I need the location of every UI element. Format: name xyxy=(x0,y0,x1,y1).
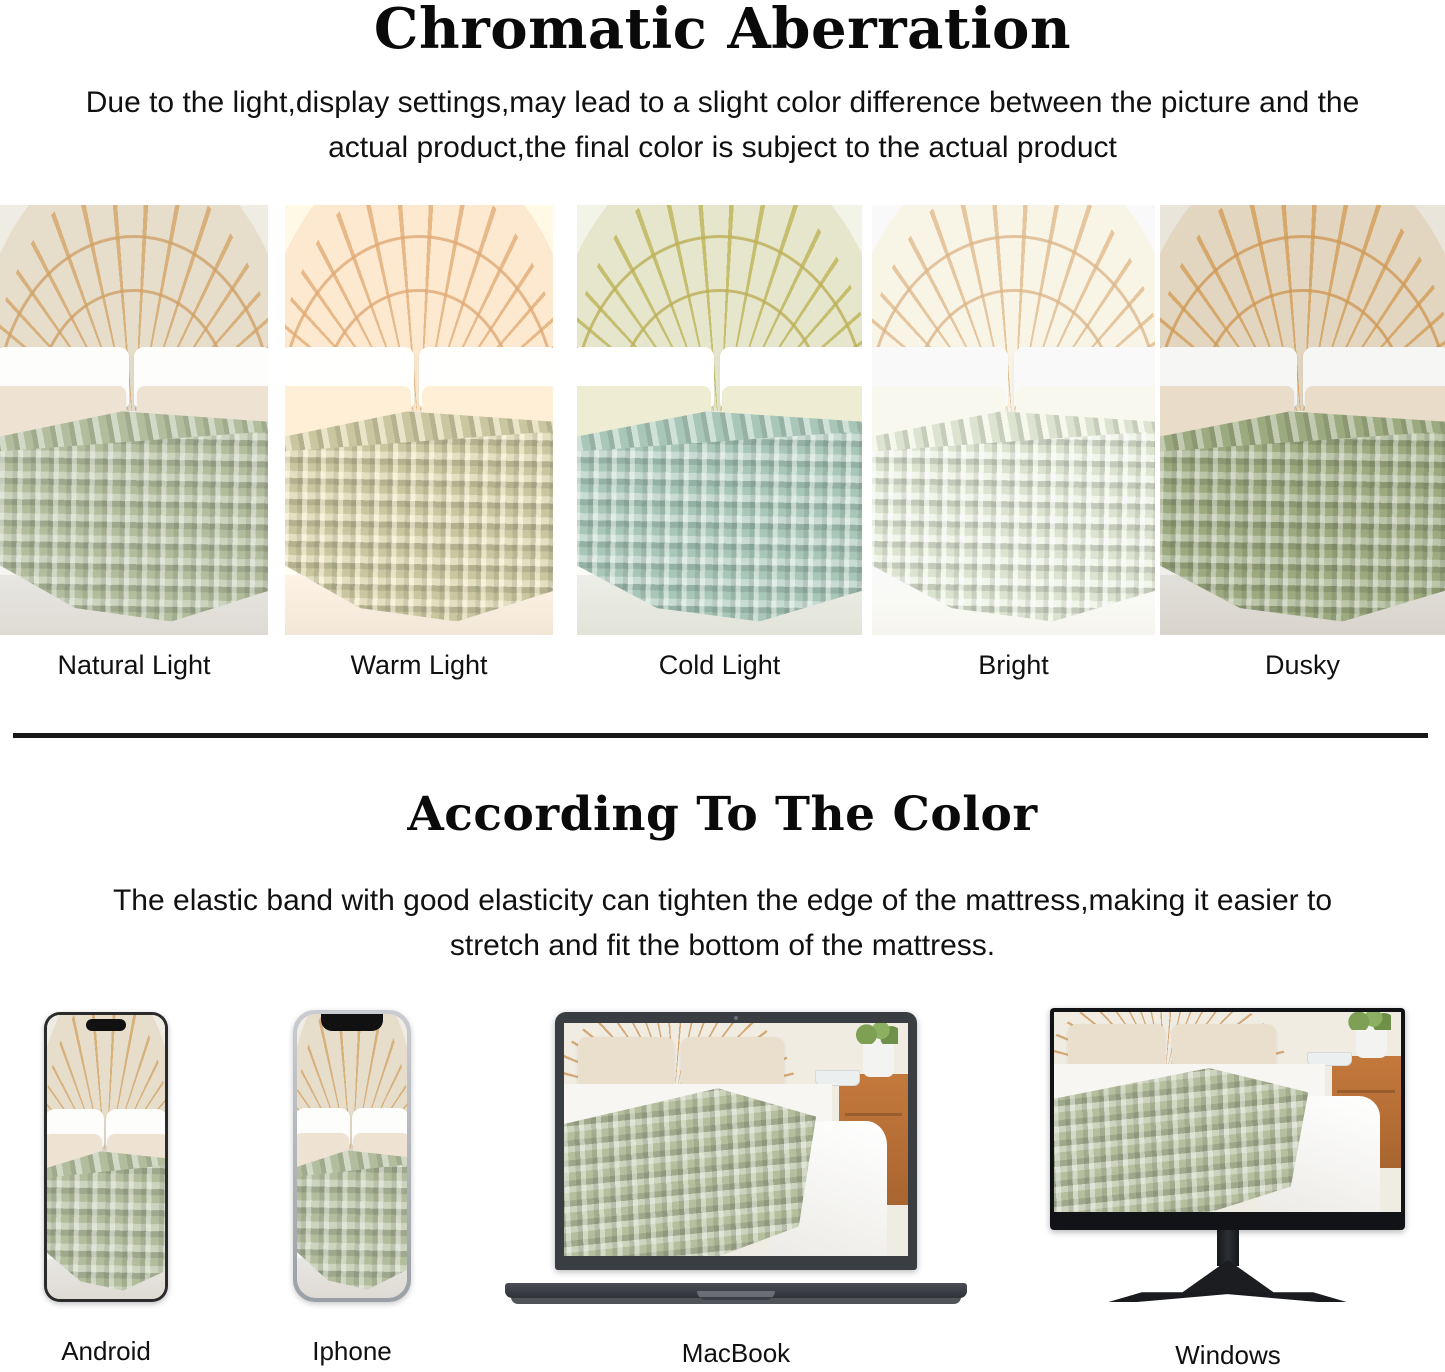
lighting-swatch-strip xyxy=(0,205,1445,635)
device-label-android: Android xyxy=(10,1334,202,1368)
device-label-windows: Windows xyxy=(1130,1338,1326,1372)
device-label-macbook: MacBook xyxy=(640,1336,832,1370)
lighting-swatch-warm-light xyxy=(285,205,553,635)
bedroom-scene xyxy=(285,205,553,635)
device-mockup-iphone xyxy=(293,1010,411,1302)
page-title-chromatic-aberration: Chromatic Aberration xyxy=(0,0,1445,60)
bedroom-scene-wide xyxy=(1054,1012,1401,1212)
plant-icon xyxy=(853,1023,898,1044)
bedroom-scene-wide xyxy=(564,1023,908,1256)
section-divider xyxy=(13,733,1428,738)
device-label-iphone: Iphone xyxy=(256,1334,448,1368)
device-mockup-android xyxy=(44,1012,168,1302)
macbook-screen xyxy=(564,1023,908,1256)
lighting-swatch-natural-light xyxy=(0,205,268,635)
android-screen xyxy=(47,1015,165,1299)
chromatic-aberration-description: Due to the light,display settings,may le… xyxy=(50,80,1395,170)
bedroom-scene xyxy=(577,205,862,635)
according-to-the-color-description: The elastic band with good elasticity ca… xyxy=(70,878,1375,968)
device-mockup-macbook xyxy=(505,1012,967,1310)
device-mockup-row xyxy=(0,1000,1445,1320)
swatch-label-bright: Bright xyxy=(872,645,1155,685)
monitor-screen xyxy=(1054,1012,1401,1212)
monitor-stand-cone xyxy=(1180,1260,1276,1294)
swatch-label-warm-light: Warm Light xyxy=(285,645,553,685)
monitor-bezel xyxy=(1050,1008,1405,1230)
plant-icon xyxy=(1345,1012,1390,1030)
webcam-icon xyxy=(734,1016,738,1020)
swatch-label-natural-light: Natural Light xyxy=(0,645,268,685)
product-infographic: Chromatic Aberration Due to the light,di… xyxy=(0,0,1445,1372)
bedroom-scene xyxy=(297,1014,407,1298)
pillow-right xyxy=(1172,1024,1276,1068)
bedroom-scene xyxy=(872,205,1155,635)
bedroom-scene xyxy=(47,1015,165,1299)
pillow-left xyxy=(1068,1024,1165,1068)
device-mockup-windows-monitor xyxy=(1050,1008,1405,1308)
macbook-lid xyxy=(555,1012,917,1270)
bedroom-scene xyxy=(0,205,268,635)
android-phone-frame xyxy=(44,1012,168,1302)
swatch-label-dusky: Dusky xyxy=(1160,645,1445,685)
bedroom-scene xyxy=(1160,205,1445,635)
lighting-swatch-bright xyxy=(872,205,1155,635)
notch-icon xyxy=(321,1014,383,1031)
page-title-according-to-the-color: According To The Color xyxy=(0,788,1445,842)
iphone-screen xyxy=(297,1014,407,1298)
pillow-left xyxy=(578,1037,674,1088)
iphone-frame xyxy=(293,1010,411,1302)
macbook-foot xyxy=(511,1297,961,1304)
lighting-labels-row: Natural Light Warm Light Cold Light Brig… xyxy=(0,645,1445,693)
pillow-right xyxy=(681,1037,784,1088)
lighting-swatch-dusky xyxy=(1160,205,1445,635)
swatch-label-cold-light: Cold Light xyxy=(577,645,862,685)
camera-cutout-icon xyxy=(86,1019,126,1031)
lighting-swatch-cold-light xyxy=(577,205,862,635)
